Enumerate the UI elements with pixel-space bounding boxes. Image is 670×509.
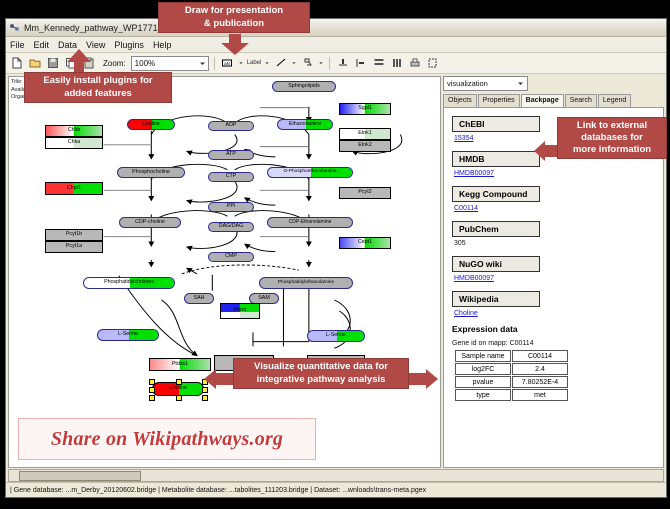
callout-share-text: Share on Wikipathways.org <box>51 428 283 451</box>
menu-bar: File Edit Data View Plugins Help <box>6 37 666 53</box>
status-text: | Gene database: ...m_Derby_20120602.bri… <box>10 487 426 494</box>
scroll-thumb[interactable] <box>19 471 141 481</box>
tab-properties[interactable]: Properties <box>478 94 520 107</box>
pathway-drawing: Title: Availa Organi <box>9 77 440 467</box>
node-pcyt1b[interactable]: Pcyt1b <box>45 229 103 241</box>
node-dag[interactable]: DAG/DAG <box>208 222 254 232</box>
node-ppi[interactable]: PPi <box>208 202 254 212</box>
table-row: type met <box>455 389 568 401</box>
chevron-down-icon <box>198 59 207 68</box>
align-left-icon[interactable] <box>353 56 368 71</box>
node-choline-top[interactable]: Choline <box>127 119 175 130</box>
callout-visualize-arrow-right <box>407 368 439 390</box>
cell-value: 7.80252E-4 <box>512 376 568 388</box>
node-etnk2[interactable]: Etnk2 <box>339 140 391 152</box>
callout-visualize-line1: Visualize quantitative data for <box>233 358 409 374</box>
menu-edit[interactable]: Edit <box>34 40 50 50</box>
anchor-dropdown-icon[interactable] <box>318 60 324 66</box>
callout-plugins-arrow <box>64 48 94 74</box>
selection-handle[interactable] <box>176 395 182 401</box>
zoom-label: Zoom: <box>103 59 126 68</box>
callout-links-line3: more information <box>557 144 667 159</box>
callout-links: Link to external databases for more info… <box>557 117 667 159</box>
menu-plugins[interactable]: Plugins <box>114 40 144 50</box>
toolbar-separator <box>329 57 330 70</box>
line-dropdown-icon[interactable] <box>291 60 297 66</box>
callout-share: Share on Wikipathways.org <box>18 418 316 460</box>
node-adp[interactable]: ADP <box>208 121 254 131</box>
panel-tabs: Objects Properties Backpage Search Legen… <box>443 93 664 107</box>
cell-key: pvalue <box>455 376 511 388</box>
pathway-canvas[interactable]: Title: Availa Organi <box>8 76 441 468</box>
distribute-icon[interactable] <box>389 56 404 71</box>
group-icon[interactable] <box>425 56 440 71</box>
nugo-header: NuGO wiki <box>452 256 540 272</box>
label-dropdown-icon[interactable] <box>264 60 270 66</box>
tab-search[interactable]: Search <box>565 94 597 107</box>
tab-legend[interactable]: Legend <box>598 94 631 107</box>
table-row: pvalue 7.80252E-4 <box>455 376 568 388</box>
callout-links-arrow <box>533 140 559 162</box>
zoom-value: 100% <box>135 59 155 68</box>
print-icon[interactable] <box>407 56 422 71</box>
callout-visualize: Visualize quantitative data for integrat… <box>233 358 409 389</box>
chevron-down-icon <box>516 79 525 88</box>
expression-table: Sample name C00114 log2FC 2.4 pvalue 7.8… <box>454 349 569 402</box>
chebi-header: ChEBI <box>452 116 540 132</box>
node-cept1[interactable]: Cept1 <box>339 237 391 249</box>
selection-handle[interactable] <box>202 395 208 401</box>
expression-data-heading: Expression data <box>452 324 663 334</box>
node-o-phosphoethanolamine[interactable]: O-Phosphoethanolamine <box>267 167 353 178</box>
nugo-link[interactable]: HMDB00097 <box>454 275 663 282</box>
node-atp[interactable]: ATP <box>208 150 254 160</box>
cell-key: Sample name <box>455 350 511 362</box>
tab-backpage[interactable]: Backpage <box>521 94 564 108</box>
wikipedia-link[interactable]: Choline <box>454 310 663 317</box>
open-icon[interactable] <box>27 56 42 71</box>
datanode-icon[interactable]: aN <box>220 56 235 71</box>
visualization-row: visualization <box>443 76 664 91</box>
zoom-select[interactable]: 100% <box>131 56 209 71</box>
cell-value: C00114 <box>512 350 568 362</box>
save-icon[interactable] <box>45 56 60 71</box>
node-cmp[interactable]: CMP <box>208 252 254 262</box>
callout-links-line2: databases for <box>557 132 667 144</box>
anchor-icon[interactable] <box>300 56 315 71</box>
node-ptdss1[interactable]: Ptdss1 <box>149 358 211 371</box>
cell-value: 2.4 <box>512 363 568 375</box>
node-phosphocholine[interactable]: Phosphocholine <box>117 167 185 178</box>
title-bar: Mm_Kennedy_pathway_WP1771_45176.gpml <box>6 19 666 37</box>
node-cdp-ethanolamine[interactable]: CDP-Ethanolamine <box>267 217 353 228</box>
node-etnk1[interactable]: Etnk1 <box>339 128 391 140</box>
hmdb-link[interactable]: HMDB00097 <box>454 170 663 177</box>
callout-visualize-arrow-left <box>203 368 235 390</box>
selection-handle[interactable] <box>176 379 182 385</box>
align-top-icon[interactable] <box>335 56 350 71</box>
cell-value: met <box>512 389 568 401</box>
kegg-link[interactable]: C00114 <box>454 205 663 212</box>
node-cdp-choline[interactable]: CDP-choline <box>119 217 181 228</box>
selection-handle[interactable] <box>149 387 155 393</box>
kegg-header: Kegg Compound <box>452 186 540 202</box>
callout-links-line1: Link to external <box>557 117 667 132</box>
node-sgpl1[interactable]: Sgpl1 <box>339 103 391 115</box>
status-bar: | Gene database: ...m_Derby_20120602.bri… <box>6 482 666 497</box>
table-row: Sample name C00114 <box>455 350 568 362</box>
callout-draw: Draw for presentation & publication <box>158 2 310 33</box>
callout-draw-line1: Draw for presentation <box>158 2 310 18</box>
callout-visualize-line2: integrative pathway analysis <box>233 374 409 389</box>
line-icon[interactable] <box>273 56 288 71</box>
cell-key: log2FC <box>455 363 511 375</box>
new-icon[interactable] <box>9 56 24 71</box>
node-pemt[interactable]: Pemt <box>220 303 260 319</box>
toolbar: Zoom: 100% aN Label <box>6 53 666 74</box>
callout-plugins: Easily install plugins for added feature… <box>24 72 172 103</box>
toolbar-separator <box>214 57 215 70</box>
wikipedia-header: Wikipedia <box>452 291 540 307</box>
callout-draw-arrow <box>218 34 252 56</box>
node-l-serine-left[interactable]: L-Serine <box>97 329 159 341</box>
node-ctp[interactable]: CTP <box>208 172 254 182</box>
tab-objects[interactable]: Objects <box>443 94 477 107</box>
node-sphingolipids[interactable]: Sphingolipids <box>272 81 336 92</box>
node-sah[interactable]: SAH <box>184 293 214 304</box>
canvas-hscrollbar[interactable] <box>8 469 664 482</box>
node-phosphatidylethanolamine[interactable]: Phosphatidylethanolamine <box>259 277 353 289</box>
callout-plugins-line1: Easily install plugins for <box>24 72 172 88</box>
node-pcyt1a[interactable]: Pcyt1a <box>45 241 103 253</box>
datanode-dropdown-icon[interactable] <box>238 60 244 66</box>
node-ethanolamine[interactable]: Ethanolamine <box>277 119 333 130</box>
menu-file[interactable]: File <box>10 40 25 50</box>
screenshot-root: Mm_Kennedy_pathway_WP1771_45176.gpml Fil… <box>0 0 670 509</box>
svg-text:aN: aN <box>224 61 230 66</box>
callout-plugins-line2: added features <box>24 88 172 103</box>
app-icon <box>9 22 20 33</box>
label-tool-label[interactable]: Label <box>247 60 262 66</box>
visualization-value: visualization <box>447 79 488 88</box>
selection-handle[interactable] <box>149 395 155 401</box>
pubchem-header: PubChem <box>452 221 540 237</box>
hmdb-header: HMDB <box>452 151 540 167</box>
gene-id-line: Gene id on mapp: C00114 <box>452 340 663 347</box>
visualization-select[interactable]: visualization <box>443 76 528 91</box>
callout-draw-line2: & publication <box>158 18 310 33</box>
node-chka[interactable]: Chka <box>45 137 103 149</box>
menu-help[interactable]: Help <box>153 40 172 50</box>
stack-icon[interactable] <box>371 56 386 71</box>
table-row: log2FC 2.4 <box>455 363 568 375</box>
node-l-serine-right[interactable]: L-Serine <box>307 330 365 342</box>
node-chkb[interactable]: Chkb <box>45 125 103 137</box>
node-chpt1[interactable]: Chpt1 <box>45 182 103 195</box>
node-phosphatidylcholines[interactable]: Phosphatidylcholines <box>83 277 175 289</box>
selection-handle[interactable] <box>149 379 155 385</box>
pubchem-value: 305 <box>454 240 663 247</box>
node-pcyt2[interactable]: Pcyt2 <box>339 187 391 199</box>
cell-key: type <box>455 389 511 401</box>
